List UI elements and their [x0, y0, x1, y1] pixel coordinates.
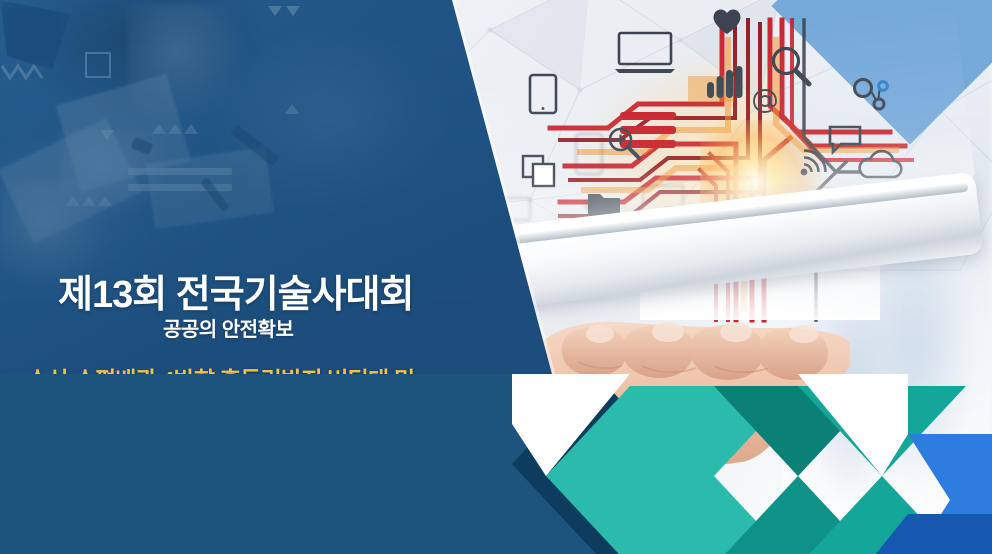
- page-subtitle: 공공의 안전확보: [163, 313, 293, 342]
- chevron-left-fill: [0, 374, 430, 554]
- page-title: 제13회 전국기술사대회: [58, 263, 413, 318]
- presentation-slide: 제13회 전국기술사대회 공공의 안전확보 수식·수평배관 4방향 흔들림방지 …: [0, 0, 992, 554]
- bottom-chevron-band: [0, 374, 992, 554]
